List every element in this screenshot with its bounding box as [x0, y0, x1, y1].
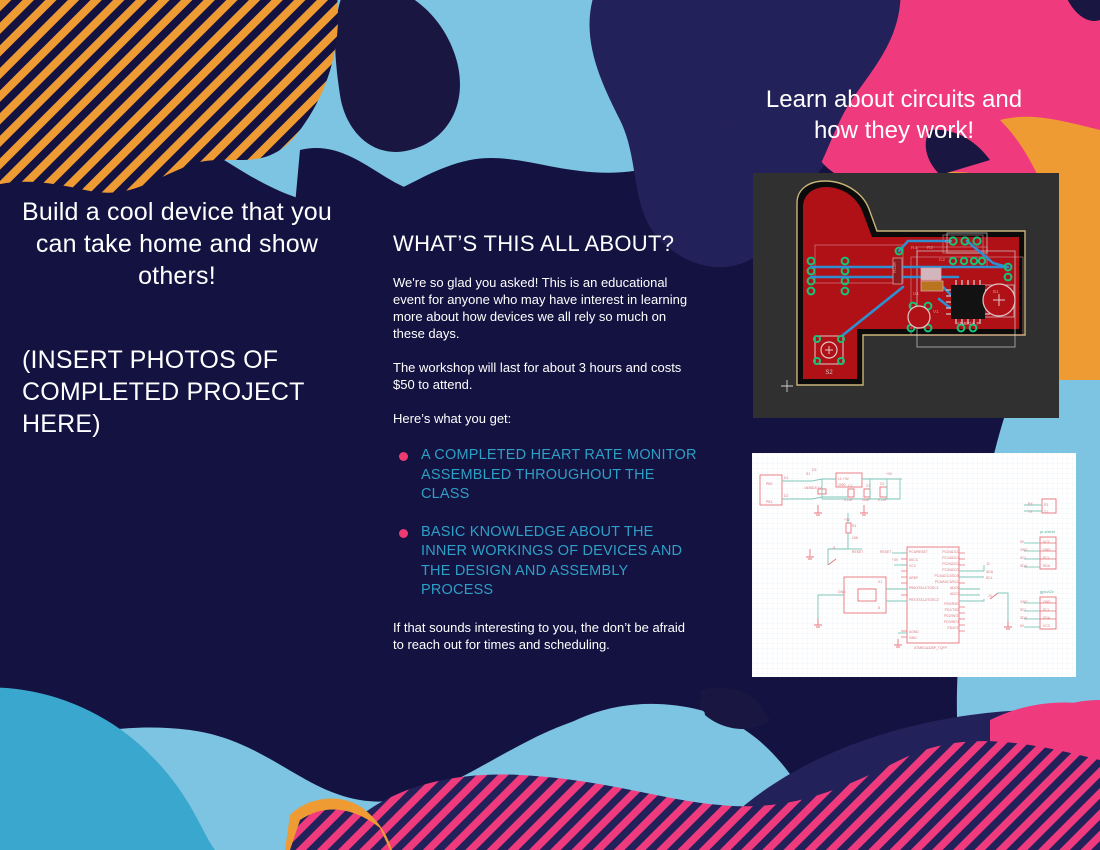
svg-text:C2: C2: [880, 482, 884, 486]
svg-text:GND: GND: [1043, 600, 1051, 604]
svg-text:R1: R1: [1044, 503, 1048, 507]
svg-text:X1: X1: [878, 580, 882, 584]
svg-text:1000: 1000: [838, 483, 846, 487]
svg-text:SDA: SDA: [1043, 616, 1051, 620]
svg-text:ADC7: ADC7: [950, 592, 959, 596]
svg-text:PD0/RXD: PD0/RXD: [944, 602, 959, 606]
svg-text:ATMEGA_P: ATMEGA_P: [957, 321, 980, 326]
svg-text:10K: 10K: [852, 536, 859, 540]
svg-text:5V: 5V: [1020, 624, 1025, 628]
svg-text:1N/5819 LV: 1N/5819 LV: [804, 486, 822, 490]
svg-text:GND: GND: [838, 590, 846, 594]
svg-text:PB1: PB1: [766, 500, 773, 504]
svg-text:ATMEGA328P_TQFP: ATMEGA328P_TQFP: [914, 646, 948, 650]
svg-text:R1: R1: [852, 524, 856, 528]
svg-text:V1: V1: [933, 309, 939, 314]
svg-text:R10K: R10K: [892, 261, 897, 273]
left-headline: Build a cool device that you can take ho…: [22, 196, 332, 292]
circuit-schematic-svg: PB2PB1 D1D2 S1D3 1N/5819 LV L1 +3V1000 C…: [752, 453, 1076, 677]
svg-text:PC2/ADC2: PC2/ADC2: [942, 562, 959, 566]
svg-text:RESET: RESET: [852, 550, 863, 554]
svg-text:SCL: SCL: [986, 576, 993, 580]
svg-text:AGND: AGND: [909, 630, 919, 634]
svg-text:10uF: 10uF: [862, 498, 870, 502]
circuit-schematic-image: PB2PB1 D1D2 S1D3 1N/5819 LV L1 +3V1000 C…: [752, 453, 1076, 677]
svg-text:PD2/INT0: PD2/INT0: [944, 614, 959, 618]
svg-text:+3V: +3V: [886, 472, 893, 476]
svg-text:PD4/T0: PD4/T0: [948, 626, 960, 630]
svg-text:S1: S1: [806, 472, 810, 476]
svg-text:J3: J3: [988, 594, 992, 598]
middle-column: WHAT’S THIS ALL ABOUT? We're so glad you…: [393, 231, 698, 666]
svg-text:5V: 5V: [1020, 540, 1025, 544]
pcb-label-s2: S2: [825, 370, 833, 376]
svg-text:AVCC: AVCC: [909, 558, 919, 562]
intro-paragraph: We're so glad you asked! This is an educ…: [393, 274, 698, 342]
svg-text:SDA: SDA: [986, 570, 994, 574]
svg-text:PC3/ADC3: PC3/ADC3: [942, 568, 959, 572]
duration-cost-paragraph: The workshop will last for about 3 hours…: [393, 359, 698, 393]
svg-text:T1: T1: [1044, 510, 1048, 514]
benefits-list: A COMPLETED HEART RATE MONITOR ASSEMBLED…: [393, 446, 698, 601]
svg-text:VCC: VCC: [909, 564, 917, 568]
svg-text:GND: GND: [1043, 548, 1051, 552]
left-column: Build a cool device that you can take ho…: [22, 196, 332, 440]
svg-text:R4: R4: [911, 245, 917, 250]
svg-text:PB2: PB2: [766, 482, 773, 486]
svg-text:U1: U1: [913, 291, 919, 296]
svg-text:PB7/XTAL2/TOSC2: PB7/XTAL2/TOSC2: [909, 598, 939, 602]
svg-text:L1 +3V: L1 +3V: [838, 477, 850, 481]
svg-text:GND: GND: [1020, 600, 1028, 604]
svg-text:ADC6: ADC6: [950, 586, 959, 590]
svg-text:SCL: SCL: [1020, 556, 1027, 560]
svg-text:C3: C3: [866, 484, 870, 488]
brochure-page: Build a cool device that you can take ho…: [0, 0, 1100, 850]
closing-paragraph: If that sounds interesting to you, the d…: [393, 619, 698, 653]
svg-text:TX: TX: [1028, 510, 1033, 514]
svg-text:J2: J2: [986, 562, 990, 566]
svg-text:+3V: +3V: [892, 558, 899, 562]
svg-text:PD1/TXD: PD1/TXD: [945, 608, 960, 612]
svg-text:C2: C2: [939, 257, 945, 262]
svg-text:C1: C1: [848, 484, 852, 488]
svg-text:0.1uF: 0.1uF: [844, 498, 853, 502]
list-item: BASIC KNOWLEDGE ABOUT THE INNER WORKINGS…: [393, 523, 698, 601]
svg-text:SDA: SDA: [1043, 564, 1051, 568]
svg-text:J1: J1: [832, 546, 836, 550]
svg-text:D3: D3: [812, 468, 816, 472]
pcb-layout-svg: ATMEGA_P S2: [753, 173, 1059, 418]
svg-text:PC6/RESET: PC6/RESET: [909, 550, 928, 554]
svg-text:SCL: SCL: [1020, 608, 1027, 612]
svg-text:PC5/ADC5/SCL: PC5/ADC5/SCL: [935, 580, 959, 584]
svg-text:PD3/INT1: PD3/INT1: [944, 620, 959, 624]
svg-text:RESET: RESET: [880, 550, 891, 554]
svg-text:R2: R2: [945, 239, 951, 244]
svg-text:PC4/ADC4/SDA: PC4/ADC4/SDA: [935, 574, 960, 578]
svg-text:8: 8: [878, 606, 880, 610]
list-item-label: A COMPLETED HEART RATE MONITOR ASSEMBLED…: [421, 446, 698, 505]
svg-text:PB6/XTAL1/TOSC1: PB6/XTAL1/TOSC1: [909, 586, 939, 590]
svg-text:SDA: SDA: [1020, 564, 1028, 568]
svg-text:D2: D2: [784, 494, 788, 498]
svg-text:SCL: SCL: [1043, 556, 1050, 560]
section-heading: WHAT’S THIS ALL ABOUT?: [393, 231, 698, 257]
svg-text:VCC: VCC: [1043, 624, 1051, 628]
svg-text:gpio/i2c: gpio/i2c: [1040, 589, 1054, 594]
svg-text:0.1uF: 0.1uF: [878, 498, 887, 502]
svg-text:SCL: SCL: [1043, 608, 1050, 612]
svg-text:RX: RX: [1028, 502, 1033, 506]
svg-text:pi-shield: pi-shield: [1040, 529, 1055, 534]
bullet-dot-icon: [399, 529, 408, 538]
svg-text:B1: B1: [993, 289, 999, 294]
list-item-label: BASIC KNOWLEDGE ABOUT THE INNER WORKINGS…: [421, 523, 698, 601]
benefits-lead-in: Here’s what you get:: [393, 410, 698, 427]
svg-text:PC0/ADC0: PC0/ADC0: [942, 550, 959, 554]
photo-placeholder-text: (INSERT PHOTOS OF COMPLETED PROJECT HERE…: [22, 344, 332, 440]
svg-text:SDA: SDA: [1020, 616, 1028, 620]
svg-text:GND: GND: [909, 636, 917, 640]
svg-text:PC1/ADC1: PC1/ADC1: [942, 556, 959, 560]
svg-text:AREF: AREF: [909, 576, 918, 580]
pcb-layout-image: ATMEGA_P S2: [753, 173, 1059, 418]
bullet-dot-icon: [399, 452, 408, 461]
svg-text:D1: D1: [784, 476, 788, 480]
svg-text:VCC: VCC: [1043, 540, 1051, 544]
list-item: A COMPLETED HEART RATE MONITOR ASSEMBLED…: [393, 446, 698, 505]
svg-text:R3: R3: [927, 245, 933, 250]
right-headline: Learn about circuits and how they work!: [744, 84, 1044, 146]
svg-text:GND: GND: [1020, 548, 1028, 552]
svg-text:+3V: +3V: [844, 518, 851, 522]
